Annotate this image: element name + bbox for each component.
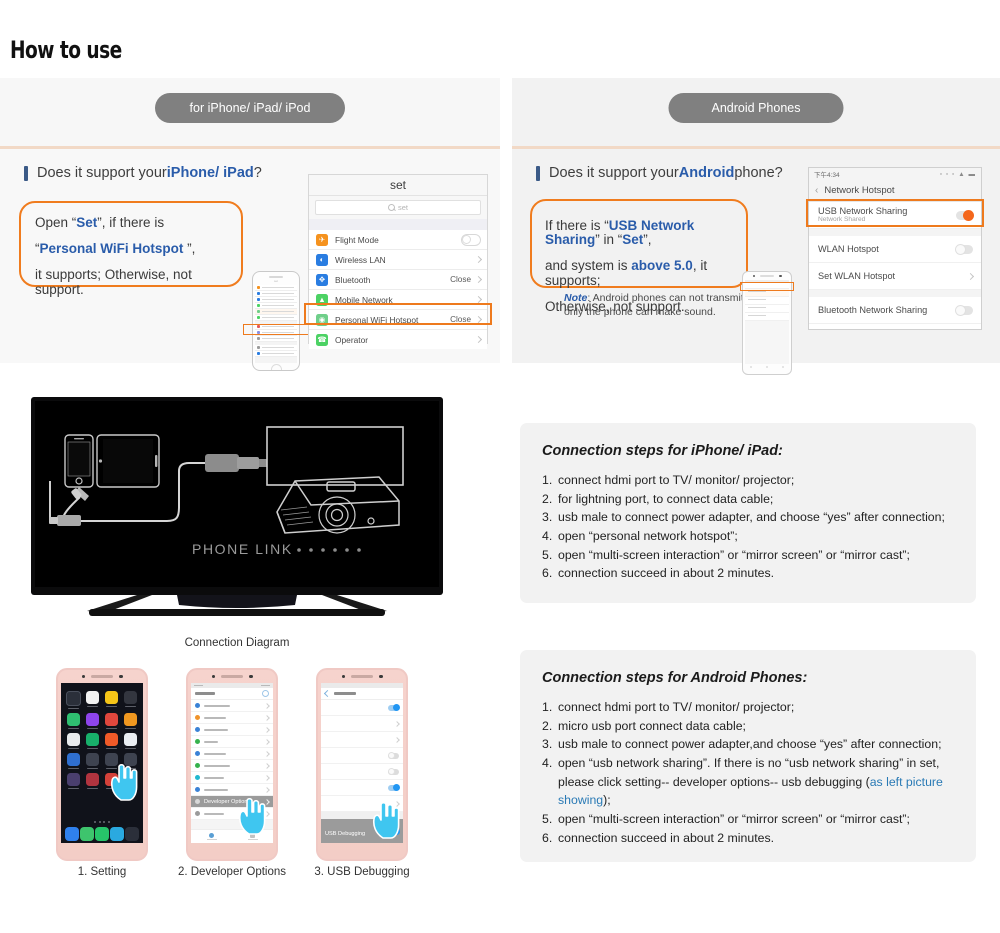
ios-search-wrap: set xyxy=(309,196,487,219)
sensor-icon xyxy=(249,675,253,679)
ios-hotspot-highlight xyxy=(304,303,492,325)
ios-line1-c: ”, if there is xyxy=(97,215,164,230)
ios-steps-box: Connection steps for iPhone/ iPad: 1.con… xyxy=(520,423,976,603)
iphone-mock-highlight xyxy=(243,324,309,335)
ios-search-field[interactable]: set xyxy=(315,200,481,215)
step-number: 4. xyxy=(542,754,558,810)
bullet-bar-icon xyxy=(536,166,540,181)
back-arrow-icon[interactable]: ‹ xyxy=(815,185,818,196)
ios-row-label: Operator xyxy=(335,335,476,345)
ios-question: Does it support your iPhone/ iPad ? xyxy=(24,165,262,181)
speaker-icon xyxy=(760,275,774,277)
ios-callout: Open “Set”, if there is “Personal WiFi H… xyxy=(19,201,243,287)
selected-row-label: USB Debugging xyxy=(325,831,365,837)
app-icon-browser[interactable] xyxy=(65,753,82,769)
chevron-right-icon xyxy=(475,296,482,303)
note-label: Note xyxy=(564,292,587,304)
ios-line1-a: Open “ xyxy=(35,215,76,230)
ios-list-spacer xyxy=(309,219,487,230)
settings-row[interactable] xyxy=(191,712,273,724)
step-number: 3. xyxy=(542,735,558,754)
app-icon-more[interactable] xyxy=(122,773,139,789)
list-item: 4.open “usb network sharing”. If there i… xyxy=(542,754,952,810)
android-row-text: Bluetooth Network Sharing xyxy=(818,305,956,316)
app-icon-calendar[interactable] xyxy=(84,691,101,709)
list-item: 5.open “multi-screen interaction” or “mi… xyxy=(542,546,952,565)
android-row-title: WLAN Hotspot xyxy=(818,244,956,255)
connection-diagram-caption: Connection Diagram xyxy=(27,637,447,649)
tab-more[interactable] xyxy=(232,830,273,843)
app-icon-video[interactable] xyxy=(84,773,101,789)
android-question-strong: Android xyxy=(679,165,735,181)
ios-row-value: Close xyxy=(450,275,471,284)
step-number: 4. xyxy=(542,527,558,546)
settings-header xyxy=(191,688,273,700)
step-text: open “multi-screen interaction” or “mirr… xyxy=(558,546,952,565)
app-icon-play-store[interactable] xyxy=(65,713,82,729)
sensor-icon xyxy=(779,275,782,278)
phone-screenshot-setting xyxy=(56,668,148,861)
tab-settings[interactable] xyxy=(191,830,232,843)
dev-row[interactable] xyxy=(321,716,403,732)
camera-icon xyxy=(342,675,346,679)
step-number: 2. xyxy=(542,717,558,736)
phone-bottom-bezel xyxy=(318,843,406,857)
app-icon-market[interactable] xyxy=(103,773,120,789)
wifi-icon: ◐ xyxy=(316,254,328,266)
phone-screen: USB Debugging xyxy=(321,683,403,843)
selected-row-label: Developer Options xyxy=(204,799,250,805)
settings-row[interactable] xyxy=(191,760,273,772)
phone-screen: Developer Options xyxy=(191,683,273,843)
android-row-text: WLAN Hotspot xyxy=(818,244,956,255)
app-icon-tools[interactable] xyxy=(84,753,101,769)
toggle-switch-off[interactable] xyxy=(388,753,399,759)
app-icon-weather[interactable] xyxy=(103,691,120,709)
step-number: 1. xyxy=(542,698,558,717)
ios-steps-list: 1.connect hdmi port to TV/ monitor/ proj… xyxy=(542,471,952,583)
app-icon-games[interactable] xyxy=(65,773,82,789)
step-number: 6. xyxy=(542,564,558,583)
step-text: connection succeed in about 2 minutes. xyxy=(558,564,952,583)
app-icon-folder[interactable] xyxy=(103,753,120,769)
dock-icon-browser[interactable] xyxy=(110,827,124,841)
app-icon-music[interactable] xyxy=(122,691,139,709)
step-text: usb male to connect power adapter,and ch… xyxy=(558,735,952,754)
android-usb-sharing-highlight xyxy=(806,199,984,227)
toggle-switch-on[interactable] xyxy=(388,785,399,791)
speaker-icon xyxy=(91,675,113,678)
settings-row[interactable] xyxy=(191,808,273,820)
step-text: open “multi-screen interaction” or “mirr… xyxy=(558,810,952,829)
phone-screen xyxy=(61,683,143,843)
list-item: 6.connection succeed in about 2 minutes. xyxy=(542,829,952,848)
camera-icon xyxy=(753,275,756,278)
phone-top-bar xyxy=(58,670,146,683)
android-list-separator xyxy=(809,290,981,297)
ios-line3: it supports; Otherwise, not support. xyxy=(35,268,227,296)
step-number: 3. xyxy=(542,508,558,527)
app-icon-contacts[interactable] xyxy=(103,713,120,729)
and-line2-ver: above 5.0 xyxy=(631,258,693,273)
list-item: 1.connect hdmi port to TV/ monitor/ proj… xyxy=(542,471,952,490)
airplane-icon: ✈ xyxy=(316,234,328,246)
ios-line2-c: ”, xyxy=(183,241,195,256)
step-number: 6. xyxy=(542,829,558,848)
android-question-prefix: Does it support your xyxy=(549,165,679,181)
app-icon-files[interactable] xyxy=(122,713,139,729)
step-number: 5. xyxy=(542,546,558,565)
android-steps-box: Connection steps for Android Phones: 1.c… xyxy=(520,650,976,862)
chevron-right-icon xyxy=(475,336,482,343)
connection-diagram-image: PHONE LINK xyxy=(27,397,447,632)
page-title: How to use xyxy=(10,36,122,64)
phone-icon: ☎ xyxy=(316,334,328,346)
dev-row[interactable] xyxy=(321,796,403,812)
app-grid xyxy=(61,683,143,789)
search-icon xyxy=(388,204,395,211)
step-number: 5. xyxy=(542,810,558,829)
android-steps-heading: Connection steps for Android Phones: xyxy=(542,670,952,686)
and-line1-c: ” in “ xyxy=(595,232,622,247)
speaker-icon xyxy=(351,675,373,678)
sensor-icon xyxy=(379,675,383,679)
app-icon-apps[interactable] xyxy=(122,753,139,769)
android-question: Does it support your Android phone? xyxy=(536,165,783,181)
phone-screenshot-developer-options: Developer Options xyxy=(186,668,278,861)
android-row-bluetooth-network-sharing[interactable]: Bluetooth Network Sharing xyxy=(809,297,981,324)
how-to-use-page: How to use for iPhone/ iPad/ iPod Does i… xyxy=(0,0,1000,933)
page-indicator-dots xyxy=(61,821,143,823)
ios-line1-set: Set xyxy=(76,215,97,230)
note-line2: only the phone can make sound. xyxy=(564,306,716,318)
step-text: micro usb port connect data cable; xyxy=(558,717,952,736)
phone-caption-2: 2. Developer Options xyxy=(162,866,302,878)
list-item: 5.open “multi-screen interaction” or “mi… xyxy=(542,810,952,829)
phone-bottom-bezel xyxy=(58,843,146,857)
list-item: 6.connection succeed in about 2 minutes. xyxy=(542,564,952,583)
android-status-bar: 下午4:34 ▫ ▫ ▫ ▲ ▬ xyxy=(809,168,981,180)
step-text: connect hdmi port to TV/ monitor/ projec… xyxy=(558,471,952,490)
dock xyxy=(61,827,143,841)
ios-row-bluetooth[interactable]: ✥ Bluetooth Close xyxy=(309,270,487,290)
dock-icon-camera[interactable] xyxy=(125,827,139,841)
status-icons: ▫ ▫ ▫ ▲ ▬ xyxy=(940,171,976,178)
ios-nav-title: set xyxy=(309,175,487,196)
ios-settings-list: ✈ Flight Mode ◐ Wireless LAN ✥ Bluetooth… xyxy=(309,230,487,349)
ios-question-strong: iPhone/ iPad xyxy=(167,165,254,181)
list-item: 2.micro usb port connect data cable; xyxy=(542,717,952,736)
camera-icon xyxy=(212,675,216,679)
ios-row-flight-mode[interactable]: ✈ Flight Mode xyxy=(309,230,487,250)
developer-options-screen: USB Debugging xyxy=(321,683,403,843)
bullet-bar-icon xyxy=(24,166,28,181)
android-mock-screen xyxy=(745,280,789,364)
sensor-icon xyxy=(119,675,123,679)
and-line1-a: If there is “ xyxy=(545,218,609,233)
android-tab-zone: Android Phones xyxy=(512,78,1000,138)
dev-row[interactable] xyxy=(321,748,403,764)
settings-row[interactable] xyxy=(191,736,273,748)
chevron-right-icon xyxy=(475,276,482,283)
android-question-suffix: phone? xyxy=(734,165,782,181)
tv-diagram-svg: PHONE LINK xyxy=(27,397,447,632)
app-icon-photos[interactable] xyxy=(103,733,120,749)
iphone-mock-title: set xyxy=(253,279,299,283)
settings-row[interactable] xyxy=(191,700,273,712)
and-line1-set: Set xyxy=(622,232,643,247)
app-icon-compass[interactable] xyxy=(84,733,101,749)
step-text: connect hdmi port to TV/ monitor/ projec… xyxy=(558,698,952,717)
ios-row-label: Wireless LAN xyxy=(335,255,471,265)
section-separator xyxy=(321,812,403,819)
bottom-tab-bar xyxy=(191,829,273,843)
toggle-switch-off[interactable] xyxy=(956,245,973,254)
step-number: 2. xyxy=(542,490,558,509)
step-text: usb male to connect power adapter, and c… xyxy=(558,508,952,527)
settings-row[interactable] xyxy=(191,724,273,736)
android-settings-screenshot: 下午4:34 ▫ ▫ ▫ ▲ ▬ ‹ Network Hotspot USB N… xyxy=(808,167,982,330)
settings-list-screen: Developer Options xyxy=(191,683,273,843)
phone-top-bar xyxy=(318,670,406,683)
android-row-set-wlan-hotspot[interactable]: Set WLAN Hotspot xyxy=(809,263,981,290)
tv-brand-text: PHONE LINK xyxy=(192,541,293,557)
ios-search-placeholder: set xyxy=(398,203,408,212)
speaker-icon xyxy=(221,675,243,678)
camera-icon xyxy=(82,675,86,679)
tab-ios[interactable]: for iPhone/ iPad/ iPod xyxy=(155,93,345,123)
dev-row[interactable] xyxy=(321,780,403,796)
dock-icon-phone[interactable] xyxy=(65,827,79,841)
search-icon[interactable] xyxy=(262,690,269,697)
step4-part-b: ); xyxy=(603,793,611,807)
step-number: 1. xyxy=(542,471,558,490)
step-text: connection succeed in about 2 minutes. xyxy=(558,829,952,848)
ios-question-suffix: ? xyxy=(254,165,262,181)
step-text: open “usb network sharing”. If there is … xyxy=(558,754,952,810)
toggle-switch-on[interactable] xyxy=(388,828,399,834)
chevron-right-icon xyxy=(394,737,400,743)
android-mock-highlight xyxy=(740,282,794,291)
app-icon-settings[interactable] xyxy=(122,733,139,749)
phone-bottom-bezel xyxy=(188,843,276,857)
chevron-right-icon xyxy=(967,272,974,279)
phone-screenshot-usb-debugging: USB Debugging xyxy=(316,668,408,861)
ios-row-label: Bluetooth xyxy=(335,275,450,285)
toggle-switch-off[interactable] xyxy=(388,769,399,775)
settings-row[interactable] xyxy=(191,748,273,760)
developer-options-header xyxy=(321,688,403,700)
chevron-right-icon xyxy=(394,721,400,727)
settings-row[interactable] xyxy=(191,784,273,796)
android-screen-title: Network Hotspot xyxy=(824,185,894,196)
list-item: 1.connect hdmi port to TV/ monitor/ proj… xyxy=(542,698,952,717)
bluetooth-icon: ✥ xyxy=(316,274,328,286)
ios-line2-hotspot: Personal WiFi Hotspot xyxy=(40,241,184,256)
ios-row-wireless-lan[interactable]: ◐ Wireless LAN xyxy=(309,250,487,270)
list-item: 3.usb male to connect power adapter, and… xyxy=(542,508,952,527)
list-item: 3.usb male to connect power adapter,and … xyxy=(542,735,952,754)
settings-row[interactable] xyxy=(191,772,273,784)
android-list-separator xyxy=(809,229,981,236)
ios-row-operator[interactable]: ☎ Operator xyxy=(309,330,487,349)
android-steps-list: 1.connect hdmi port to TV/ monitor/ proj… xyxy=(542,698,952,848)
iphone-mockup: set xyxy=(252,271,300,371)
iphone-home-button-icon xyxy=(271,364,282,371)
chevron-right-icon xyxy=(394,801,400,807)
settings-row-developer-options[interactable]: Developer Options xyxy=(191,796,273,808)
app-icon-clock[interactable] xyxy=(65,691,82,709)
ios-tab-zone: for iPhone/ iPad/ iPod xyxy=(0,78,500,138)
android-row-wlan-hotspot[interactable]: WLAN Hotspot xyxy=(809,236,981,263)
dev-row[interactable] xyxy=(321,700,403,716)
step-text: open “personal network hotspot”; xyxy=(558,527,952,546)
android-navbar xyxy=(743,364,791,370)
android-row-title: Bluetooth Network Sharing xyxy=(818,305,956,316)
ios-question-prefix: Does it support your xyxy=(37,165,167,181)
toggle-switch-off[interactable] xyxy=(956,306,973,315)
and-line1-e: ”, xyxy=(643,232,651,247)
chevron-right-icon xyxy=(475,256,482,263)
dev-row[interactable] xyxy=(321,764,403,780)
and-line2-a: and system is xyxy=(545,258,631,273)
dev-row-usb-debugging[interactable]: USB Debugging xyxy=(321,819,403,843)
toggle-switch-on[interactable] xyxy=(388,705,399,711)
phone-caption-1: 1. Setting xyxy=(32,866,172,878)
android-mock-top xyxy=(743,272,791,280)
dock-icon-messages[interactable] xyxy=(80,827,94,841)
android-row-text: Set WLAN Hotspot xyxy=(818,271,968,282)
phone-top-bar xyxy=(188,670,276,683)
back-arrow-icon[interactable] xyxy=(324,690,331,697)
ios-row-label: Flight Mode xyxy=(335,235,461,245)
status-time: 下午4:34 xyxy=(814,169,840,179)
phone-caption-3: 3. USB Debugging xyxy=(292,866,432,878)
app-icon-gallery[interactable] xyxy=(84,713,101,729)
iphone-speaker-icon xyxy=(269,276,283,278)
android-row-title: Set WLAN Hotspot xyxy=(818,271,968,282)
ios-steps-heading: Connection steps for iPhone/ iPad: xyxy=(542,443,952,459)
app-icon-notes[interactable] xyxy=(65,733,82,749)
tab-android[interactable]: Android Phones xyxy=(669,93,844,123)
dev-row[interactable] xyxy=(321,732,403,748)
list-item: 2.for lightning port, to connect data ca… xyxy=(542,490,952,509)
step-text: for lightning port, to connect data cabl… xyxy=(558,490,952,509)
home-screen xyxy=(61,683,143,843)
android-callout: If there is “USB Network Sharing” in “Se… xyxy=(530,199,748,288)
toggle-switch[interactable] xyxy=(461,234,481,246)
list-item: 4.open “personal network hotspot”; xyxy=(542,527,952,546)
dock-icon-wechat[interactable] xyxy=(95,827,109,841)
